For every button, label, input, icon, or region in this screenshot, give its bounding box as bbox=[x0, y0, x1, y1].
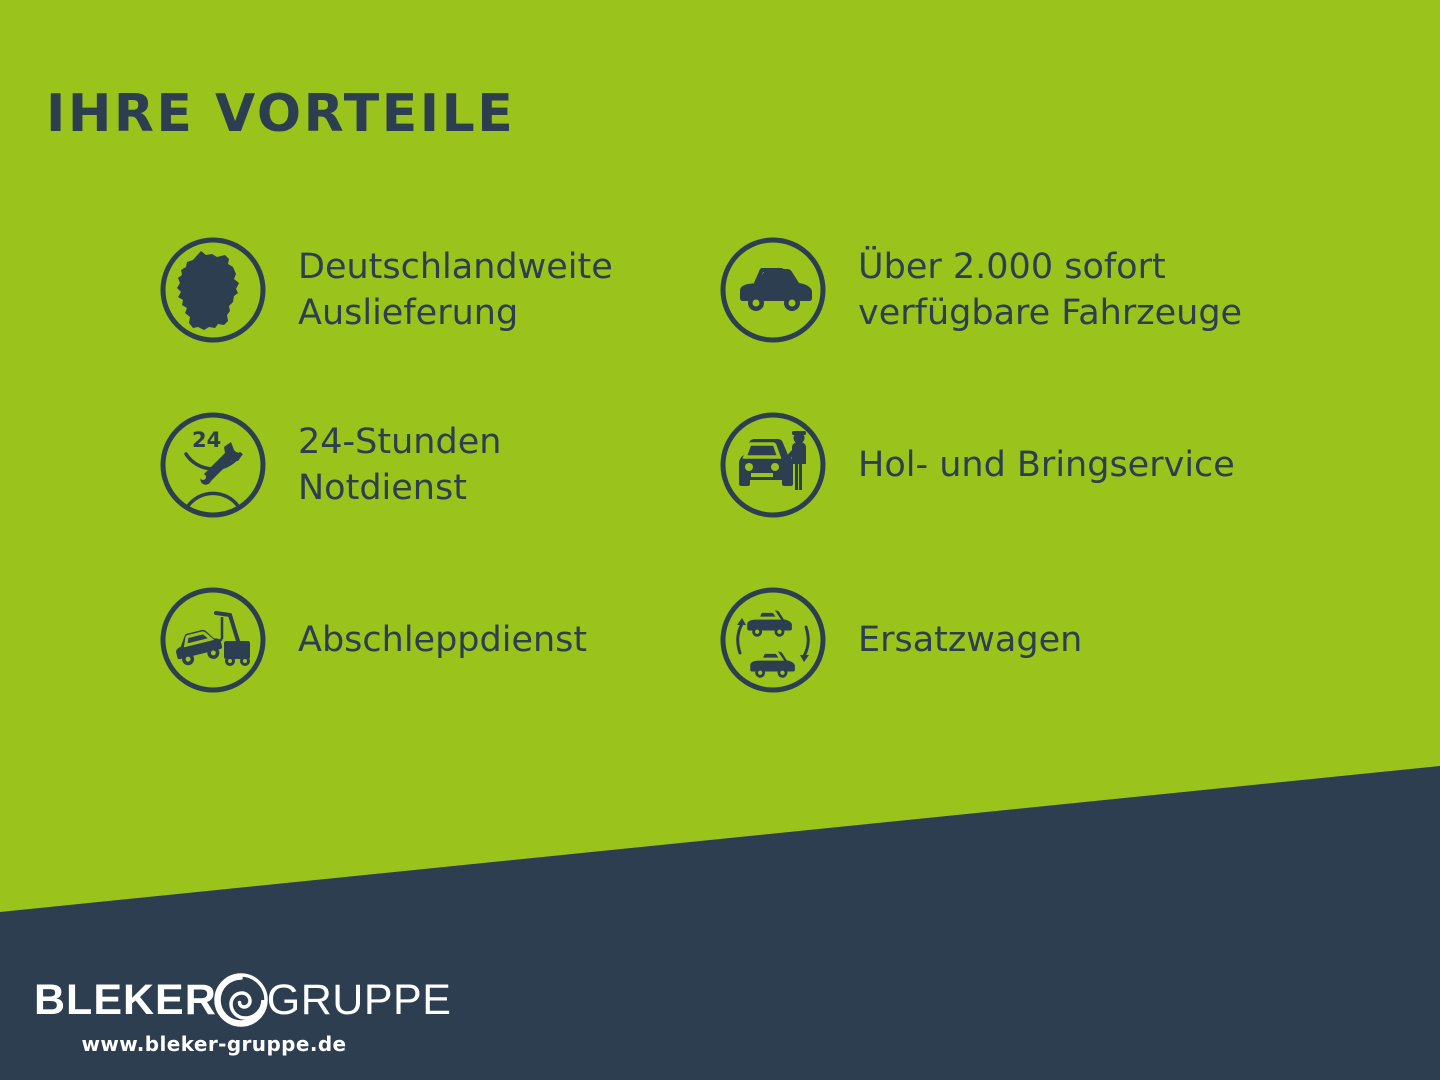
benefit-label: Über 2.000 sofort verfügbare Fahrzeuge bbox=[858, 244, 1242, 336]
footer-logo-block: BLEKER GRUPPE www.bleker-gruppe.de bbox=[34, 972, 434, 1056]
benefit-item-hol-und-bringservice: Hol- und Bringservice bbox=[718, 410, 1235, 520]
green-background-panel bbox=[0, 0, 1440, 1080]
website-url: www.bleker-gruppe.de bbox=[34, 1032, 394, 1056]
spiral-circle-icon bbox=[211, 970, 271, 1030]
logo-row: BLEKER GRUPPE bbox=[34, 972, 434, 1028]
benefit-label: Hol- und Bringservice bbox=[858, 442, 1235, 488]
benefit-item-24-stunden-notdienst: 24 24-Stunden Notdienst bbox=[158, 410, 501, 520]
benefit-item-ersatzwagen: Ersatzwagen bbox=[718, 585, 1082, 695]
logo-name-bold: BLEKER bbox=[34, 979, 217, 1022]
logo-name-light: GRUPPE bbox=[267, 979, 452, 1022]
benefit-label: Ersatzwagen bbox=[858, 617, 1082, 663]
benefit-label: Abschleppdienst bbox=[298, 617, 587, 663]
benefit-item-deutschlandweite-auslieferung: Deutschlandweite Auslieferung bbox=[158, 235, 613, 345]
24-hour-wrench-icon: 24 bbox=[158, 410, 268, 520]
two-cars-exchange-icon bbox=[718, 585, 828, 695]
benefit-label: Deutschlandweite Auslieferung bbox=[298, 244, 613, 336]
germany-map-icon bbox=[158, 235, 268, 345]
car-side-icon bbox=[718, 235, 828, 345]
benefit-label: 24-Stunden Notdienst bbox=[298, 419, 501, 511]
hours-badge-text: 24 bbox=[192, 428, 221, 452]
car-with-driver-icon bbox=[718, 410, 828, 520]
benefit-item-verfuegbare-fahrzeuge: Über 2.000 sofort verfügbare Fahrzeuge bbox=[718, 235, 1242, 345]
page-title: IHRE VORTEILE bbox=[46, 88, 515, 140]
benefit-item-abschleppdienst: Abschleppdienst bbox=[158, 585, 587, 695]
tow-truck-icon bbox=[158, 585, 268, 695]
slide-root: IHRE VORTEILE Deutschlandweite Ausliefer… bbox=[0, 0, 1440, 1080]
